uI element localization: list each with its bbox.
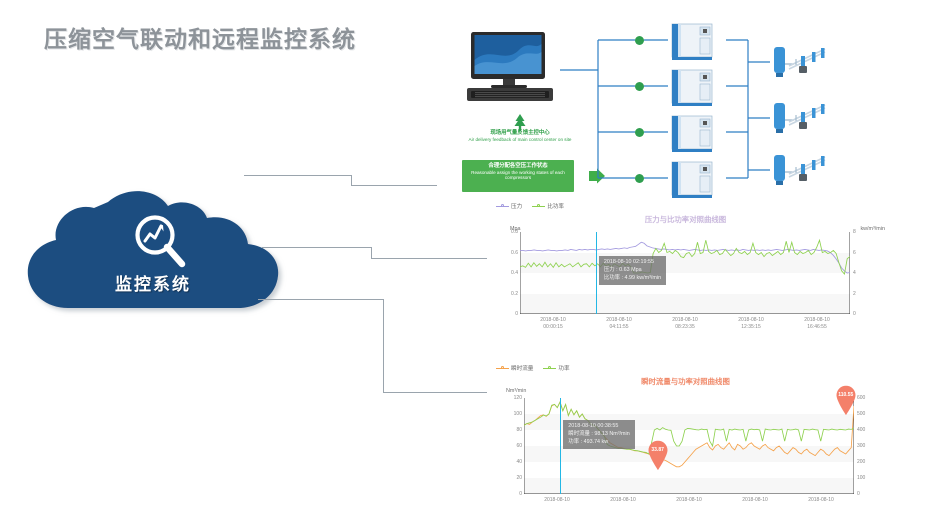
tooltip-line-1: 2018-08-10 00:38:55 — [568, 423, 629, 431]
x-tick-label: 2018-08-10 — [799, 497, 843, 504]
chart1-y2-unit: kw/m³/min — [860, 226, 885, 232]
node-dot-4 — [635, 174, 644, 183]
air-tank-piping-icon — [772, 100, 830, 136]
y-tick-label: 80 — [508, 427, 522, 433]
connector-line-2-h2 — [371, 258, 487, 259]
tooltip-line-1: 2018-08-10 02:19:55 — [604, 259, 661, 267]
series-line-比功率 — [520, 240, 850, 274]
air-compressor-icon — [670, 68, 714, 106]
x-tick-label: 2018-08-1004:11:55 — [597, 317, 641, 331]
air-tank-piping-icon — [772, 152, 830, 188]
node-dot-2 — [635, 82, 644, 91]
y-tick-label: 0 — [504, 311, 518, 317]
legend-label: 压力 — [511, 202, 522, 210]
data-marker-pin[interactable]: 33.87 — [647, 440, 669, 470]
y-tick-label: 0.4 — [504, 270, 518, 276]
connector-line-2-v — [371, 247, 372, 258]
chart2-plot-area[interactable]: 12010080604020060050040030020010002018-0… — [524, 398, 854, 494]
y2-tick-label: 400 — [857, 427, 865, 433]
y2-tick-label: 6 — [853, 250, 856, 256]
y-tick-label: 0.2 — [504, 291, 518, 297]
tooltip-line-3: 比功率 : 4.99 kw/m³/min — [604, 275, 661, 283]
x-tick-label: 2018-08-1016:46:55 — [795, 317, 839, 331]
tooltip-line-3: 功率 : 493.74 kw — [568, 439, 629, 447]
air-compressor-icon — [670, 114, 714, 152]
series-line-压力 — [520, 242, 850, 273]
cursor-line — [596, 232, 597, 314]
y2-tick-label: 600 — [857, 395, 865, 401]
y-tick-label: 100 — [508, 411, 522, 417]
y2-tick-label: 8 — [853, 229, 856, 235]
connector-line-3-v — [383, 299, 384, 392]
legend-label: 瞬时流量 — [511, 364, 533, 372]
cloud-label: 监控系统 — [22, 270, 284, 295]
magnifier-chart-icon — [130, 212, 190, 274]
y-tick-label: 0 — [508, 491, 522, 497]
x-tick-label: 2018-08-10 — [667, 497, 711, 504]
air-tank-piping-icon — [772, 44, 830, 80]
legend-label: 比功率 — [547, 202, 564, 210]
y-tick-label: 40 — [508, 459, 522, 465]
y2-tick-label: 300 — [857, 443, 865, 449]
legend-label: 功率 — [558, 364, 569, 372]
legend-item-power[interactable]: 功率 — [543, 364, 569, 372]
connector-line-2-h — [262, 247, 372, 248]
system-topology-diagram: 现场用气量反馈主控中心 Air delivery feedback of mai… — [440, 18, 945, 203]
map-pin-icon — [835, 385, 857, 415]
y2-tick-label: 0 — [853, 311, 856, 317]
x-tick-label: 2018-08-1008:23:35 — [663, 317, 707, 331]
chart2-y-unit: Nm³/min — [506, 388, 526, 394]
connector-line-1-h — [244, 175, 352, 176]
chart1-legend: 压力 比功率 — [496, 202, 564, 210]
connector-line-1-v — [351, 175, 352, 185]
x-tick-label: 2018-08-10 — [601, 497, 645, 504]
node-dot-1 — [635, 36, 644, 45]
y2-tick-label: 500 — [857, 411, 865, 417]
y2-tick-label: 200 — [857, 459, 865, 465]
y-tick-label: 60 — [508, 443, 522, 449]
connector-line-3-h — [258, 299, 384, 300]
chart2-title: 瞬时流量与功率对照曲线图 — [488, 376, 883, 387]
tooltip-line-2: 压力 : 0.63 Mpa — [604, 267, 661, 275]
tooltip-line-2: 瞬时流量 : 98.13 Nm³/min — [568, 431, 629, 439]
y-tick-label: 0.8 — [504, 229, 518, 235]
connector-line-1-h2 — [351, 185, 437, 186]
x-tick-label: 2018-08-10 — [733, 497, 777, 504]
node-dot-3 — [635, 128, 644, 137]
legend-item-instant-flow[interactable]: 瞬时流量 — [496, 364, 533, 372]
y2-tick-label: 2 — [853, 291, 856, 297]
pressure-specific-power-chart[interactable]: 压力 比功率 压力与比功率对照曲线图 Mpa kw/m³/min 0.80.60… — [488, 200, 883, 332]
y2-tick-label: 0 — [857, 491, 860, 497]
legend-item-pressure[interactable]: 压力 — [496, 202, 522, 210]
y-tick-label: 20 — [508, 475, 522, 481]
legend-marker-icon — [532, 203, 545, 209]
legend-marker-icon — [496, 203, 509, 209]
y-tick-label: 120 — [508, 395, 522, 401]
chart1-plot-area[interactable]: 0.80.60.40.20864202018-08-1000:00:152018… — [520, 232, 850, 314]
y-tick-label: 0.6 — [504, 250, 518, 256]
air-compressor-icon — [670, 160, 714, 198]
x-tick-label: 2018-08-1012:35:15 — [729, 317, 773, 331]
x-tick-label: 2018-08-1000:00:15 — [531, 317, 575, 331]
map-pin-icon — [647, 440, 669, 470]
data-marker-pin[interactable]: 110.55 — [835, 385, 857, 415]
page-title: 压缩空气联动和远程监控系统 — [44, 20, 356, 54]
x-tick-label: 2018-08-10 — [535, 497, 579, 504]
y2-tick-label: 4 — [853, 270, 856, 276]
slide-canvas: 压缩空气联动和远程监控系统 监控系统 — [0, 0, 945, 529]
cursor-line — [560, 398, 561, 494]
series-layer — [520, 232, 850, 314]
marker-value-label: 33.87 — [647, 447, 669, 453]
legend-marker-icon — [496, 365, 509, 371]
monitoring-cloud[interactable]: 监控系统 — [22, 186, 292, 326]
chart2-legend: 瞬时流量 功率 — [496, 364, 570, 372]
air-compressor-icon — [670, 22, 714, 60]
chart-tooltip: 2018-08-10 02:19:55压力 : 0.63 Mpa比功率 : 4.… — [599, 256, 666, 285]
legend-item-specific-power[interactable]: 比功率 — [532, 202, 564, 210]
flow-power-chart[interactable]: 瞬时流量 功率 瞬时流量与功率对照曲线图 Nm³/min 12010080604… — [488, 362, 883, 522]
chart-tooltip: 2018-08-10 00:38:55瞬时流量 : 98.13 Nm³/min功… — [563, 420, 634, 449]
connector-line-3-h2 — [383, 392, 487, 393]
legend-marker-icon — [543, 365, 556, 371]
y2-tick-label: 100 — [857, 475, 865, 481]
marker-value-label: 110.55 — [835, 392, 857, 398]
chart1-title: 压力与比功率对照曲线图 — [488, 214, 883, 225]
